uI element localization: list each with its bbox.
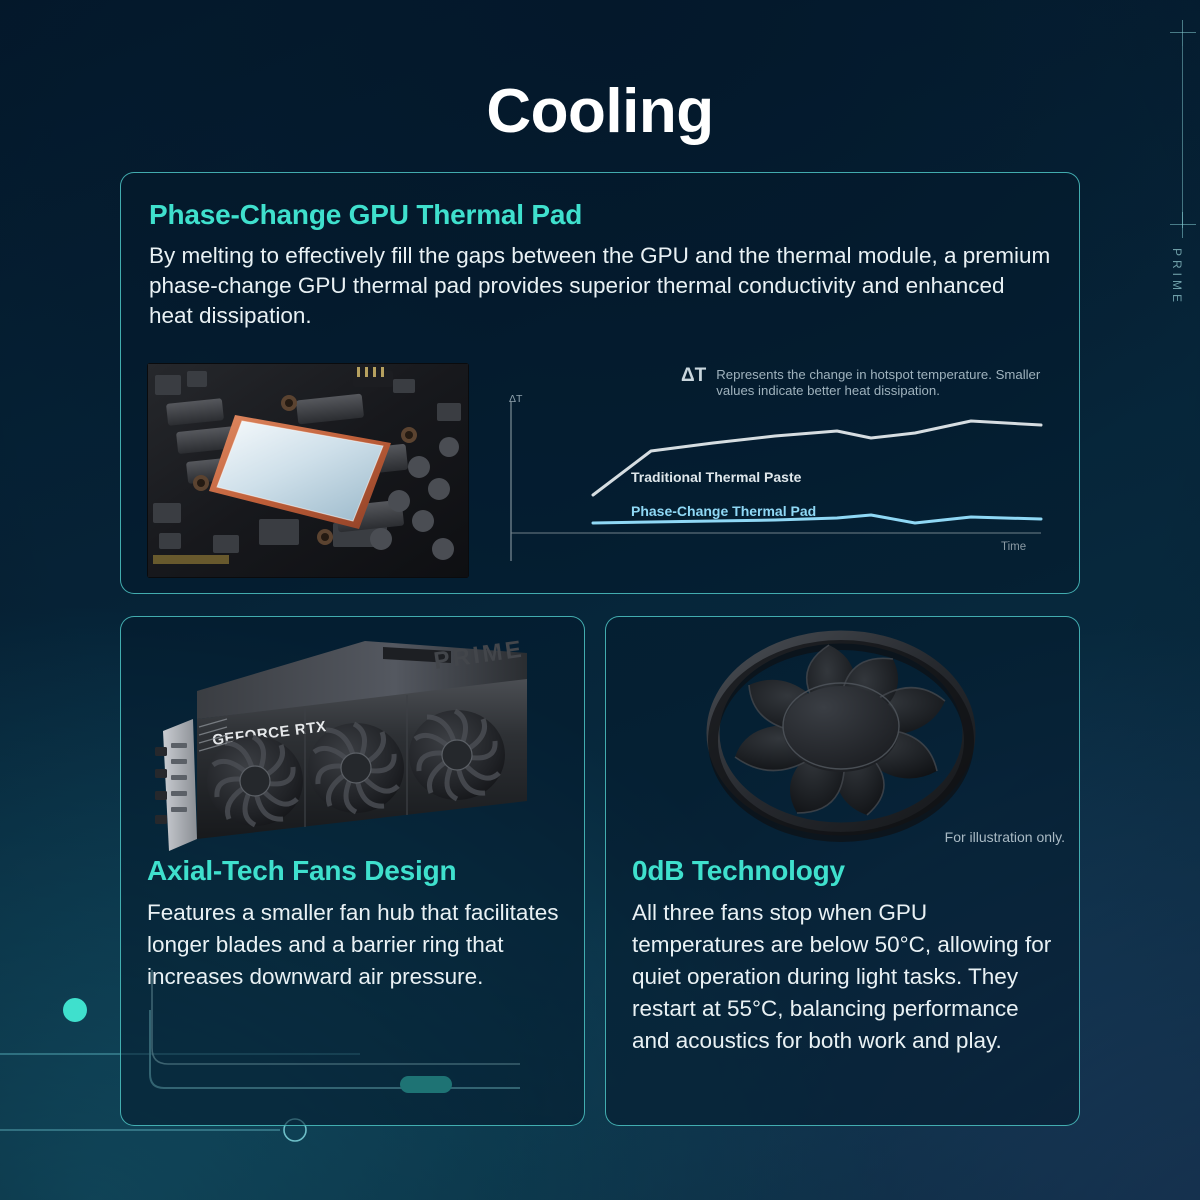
illustration-disclaimer: For illustration only. <box>945 829 1065 845</box>
card-heading-axial-fans: Axial-Tech Fans Design <box>147 855 456 887</box>
gpu-die-photo <box>147 363 469 578</box>
card-body-thermal-pad: By melting to effectively fill the gaps … <box>149 241 1051 331</box>
x-axis-label: Time <box>1001 541 1026 553</box>
card-0db-technology: For illustration only. 0dB Technology Al… <box>605 616 1080 1126</box>
legend-traditional-thermal-paste: Traditional Thermal Paste <box>631 469 801 485</box>
card-body-0db: All three fans stop when GPU temperature… <box>632 897 1060 1057</box>
axial-tech-fan-photo <box>676 623 1006 848</box>
card-axial-tech-fans: PRIME GEFORCE RTX <box>120 616 585 1126</box>
graphics-card-photo: PRIME GEFORCE RTX <box>135 623 575 853</box>
delta-t-chart: ΔT Represents the change in hotspot temp… <box>481 363 1061 578</box>
card-heading-0db: 0dB Technology <box>632 855 845 887</box>
card-phase-change-thermal-pad: Phase-Change GPU Thermal Pad By melting … <box>120 172 1080 594</box>
card-heading-thermal-pad: Phase-Change GPU Thermal Pad <box>149 199 582 231</box>
page-title: Cooling <box>0 76 1200 147</box>
legend-phase-change-thermal-pad: Phase-Change Thermal Pad <box>631 503 816 519</box>
card-body-axial-fans: Features a smaller fan hub that facilita… <box>147 897 561 993</box>
